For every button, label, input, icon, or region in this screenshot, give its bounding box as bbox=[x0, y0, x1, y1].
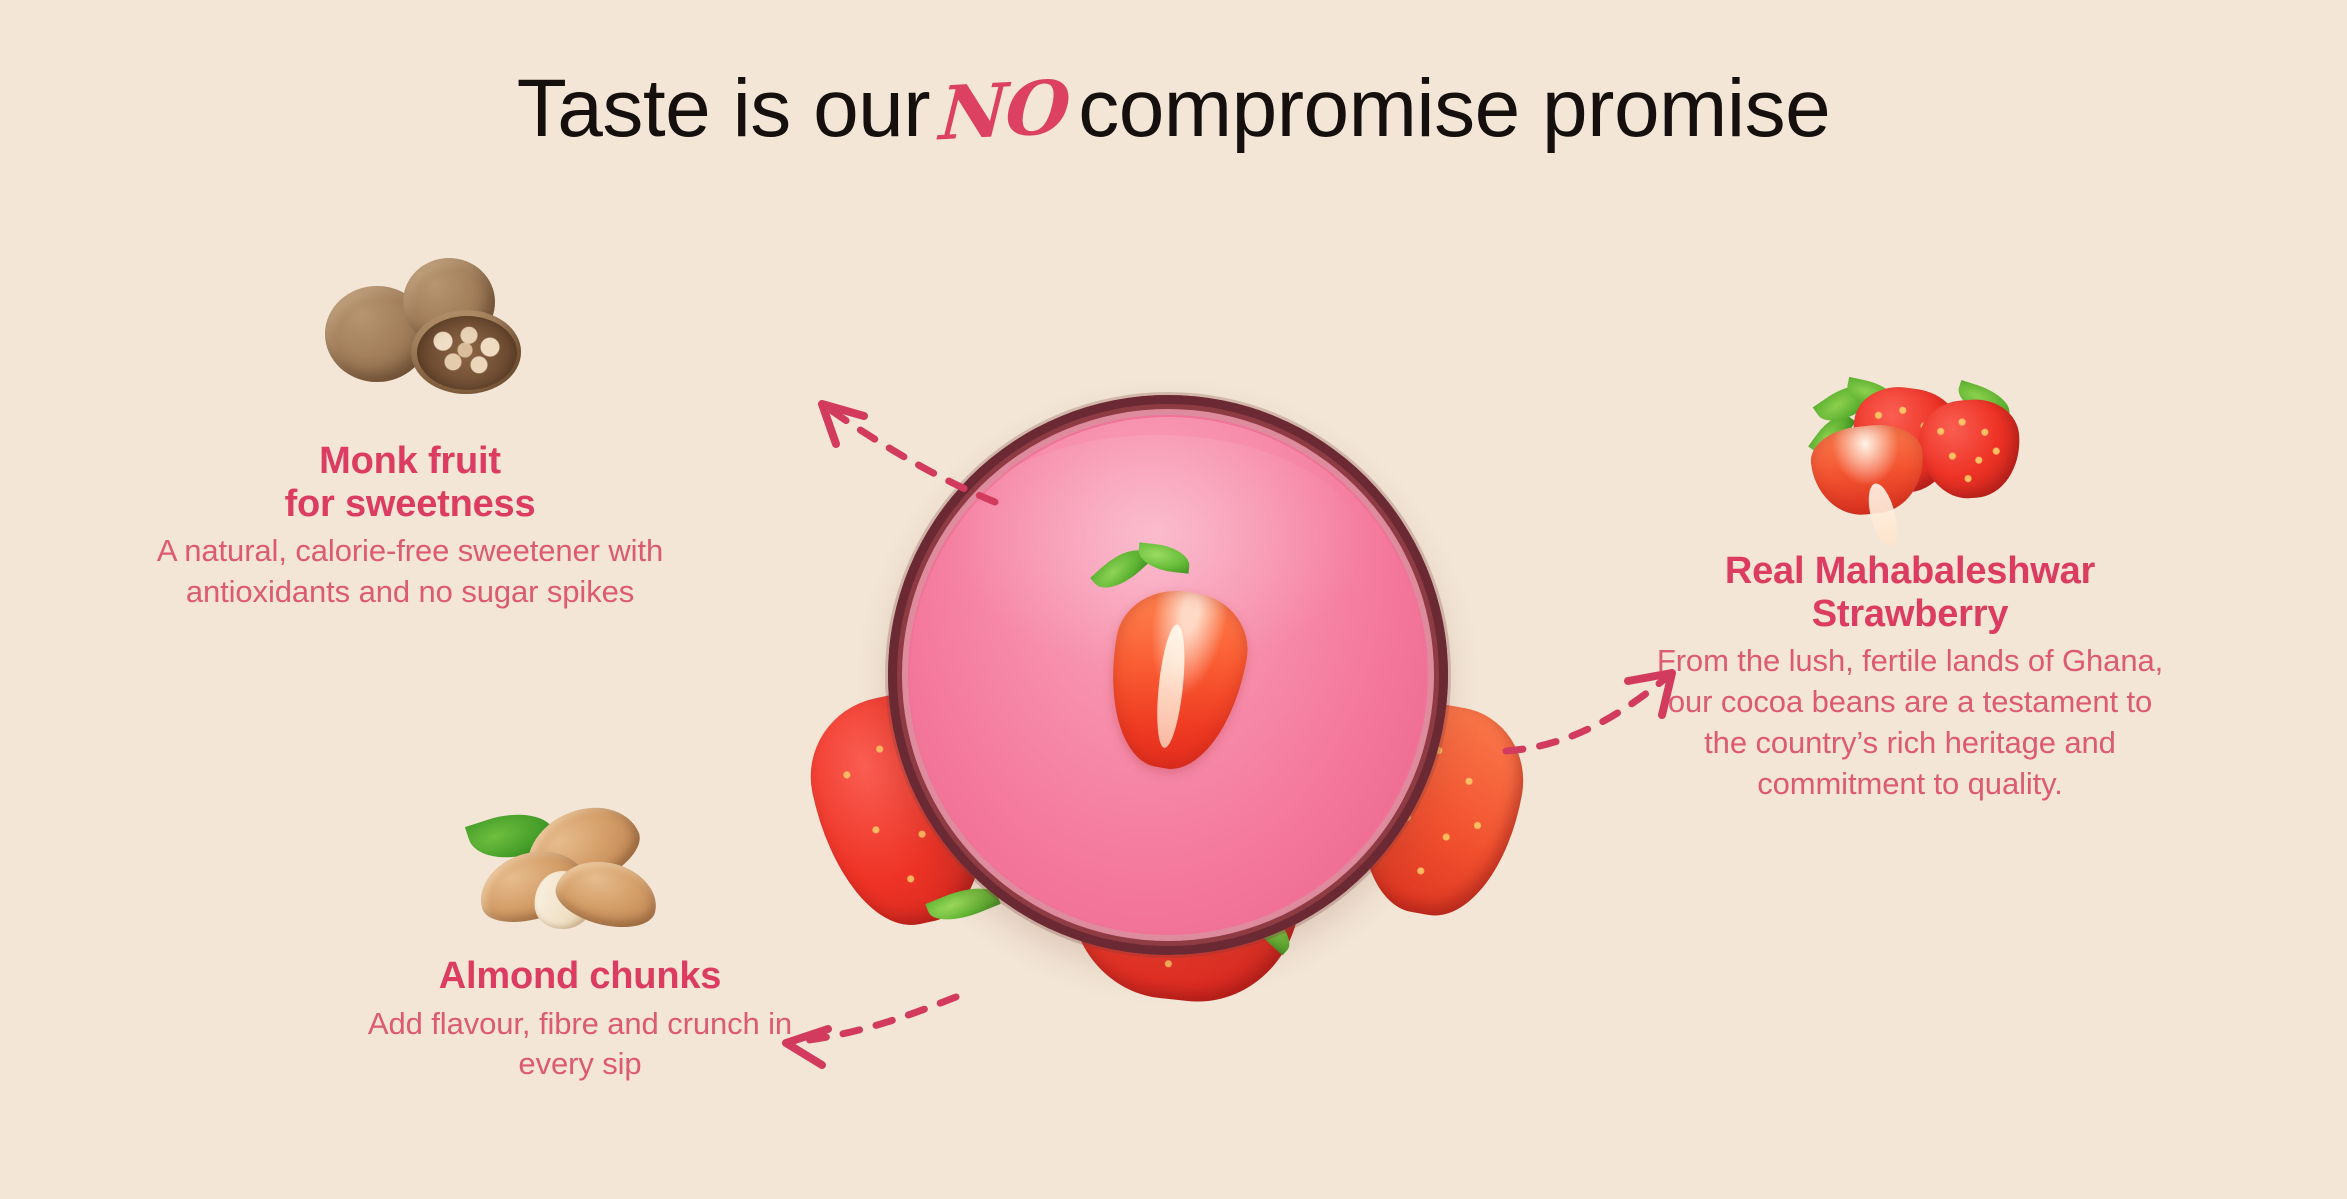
heading-line-2: for sweetness bbox=[285, 483, 536, 525]
title-highlight-no: NO bbox=[938, 65, 1071, 158]
callout-monk-fruit-body: A natural, calorie-free sweetener with a… bbox=[150, 531, 670, 613]
callout-monk-fruit-heading: Monk fruit for sweetness bbox=[150, 440, 670, 525]
callout-almond-chunks: Almond chunks Add flavour, fibre and cru… bbox=[330, 955, 830, 1085]
callout-real-strawberry-body: From the lush, fertile lands of Ghana, o… bbox=[1650, 641, 2170, 805]
title-part-1: Taste is our bbox=[517, 62, 930, 156]
monk-fruit-icon bbox=[325, 258, 540, 393]
dashed-arrow-to-almond-chunks bbox=[760, 985, 960, 1075]
callout-monk-fruit: Monk fruit for sweetness A natural, calo… bbox=[150, 440, 670, 613]
heading-line-1: Monk fruit bbox=[319, 440, 501, 482]
dashed-arrow-to-monk-fruit bbox=[790, 380, 1000, 510]
title-part-2: compromise promise bbox=[1078, 62, 1830, 156]
dashed-arrow-to-real-strawberry bbox=[1500, 655, 1700, 775]
page-title: Taste is ourNOcompromise promise bbox=[0, 62, 2347, 156]
callout-almond-chunks-heading: Almond chunks bbox=[330, 955, 830, 998]
almonds-icon bbox=[470, 805, 670, 935]
callout-almond-chunks-body: Add flavour, fibre and crunch in every s… bbox=[330, 1004, 830, 1086]
strawberries-icon bbox=[1800, 382, 2020, 517]
infographic-canvas: Taste is ourNOcompromise promise Monk fr… bbox=[0, 0, 2347, 1199]
callout-real-strawberry: Real Mahabaleshwar Strawberry From the l… bbox=[1650, 550, 2170, 805]
heading-line-2: Strawberry bbox=[1812, 593, 2009, 635]
callout-real-strawberry-heading: Real Mahabaleshwar Strawberry bbox=[1650, 550, 2170, 635]
heading-line-1: Real Mahabaleshwar bbox=[1725, 550, 2095, 592]
